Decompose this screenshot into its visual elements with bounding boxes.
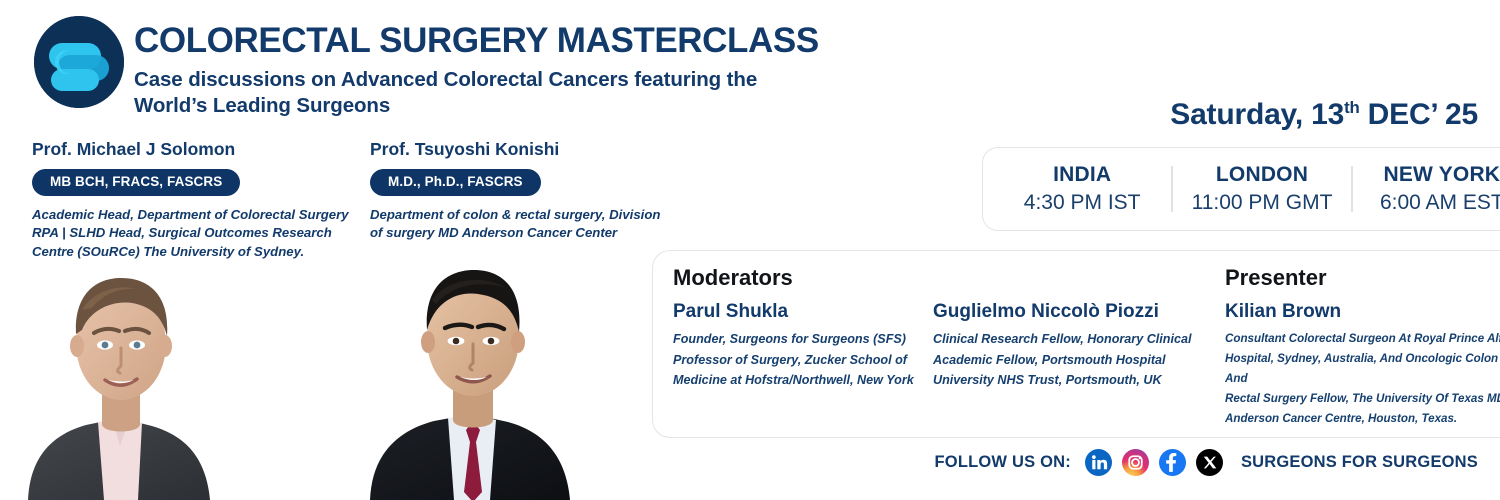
event-day: 13	[1311, 98, 1344, 131]
event-month-year: DEC’ 25	[1360, 98, 1478, 131]
presenter-name: Kilian Brown	[1225, 301, 1500, 324]
timezone-time: 6:00 AM EST	[1359, 191, 1500, 215]
page-subtitle: Case discussions on Advanced Colorectal …	[134, 67, 894, 119]
bio-line: Professor of Surgery, Zucker School of	[673, 350, 923, 370]
bio-line: Hospital, Sydney, Australia, And Oncolog…	[1225, 349, 1500, 389]
event-day-suffix: th	[1344, 98, 1359, 117]
portrait-tsuyoshi-konishi	[360, 244, 590, 500]
timezone-panel: INDIA 4:30 PM IST LONDON 11:00 PM GMT NE…	[982, 147, 1500, 231]
speaker-solomon: Prof. Michael J Solomon MB BCH, FRACS, F…	[32, 139, 352, 262]
bio-line: University NHS Trust, Portsmouth, UK	[933, 370, 1203, 390]
bio-line: Consultant Colorectal Surgeon At Royal P…	[1225, 329, 1500, 349]
moderator-parul-shukla: Parul Shukla Founder, Surgeons for Surge…	[673, 301, 933, 390]
webinar-banner: COLORECTAL SURGERY MASTERCLASS Case disc…	[0, 0, 1500, 500]
page-title: COLORECTAL SURGERY MASTERCLASS	[134, 22, 894, 60]
event-date: Saturday, 13th DEC’ 25	[1170, 98, 1478, 132]
event-weekday: Saturday,	[1170, 98, 1311, 131]
affiliation-line: Department of colon & rectal surgery, Di…	[370, 206, 670, 225]
timezone-city: INDIA	[999, 163, 1165, 187]
moderators-heading: Moderators	[673, 265, 1203, 291]
bio-line: Anderson Cancer Centre, Houston, Texas.	[1225, 409, 1500, 429]
timezone-india: INDIA 4:30 PM IST	[993, 163, 1171, 214]
moderator-name: Parul Shukla	[673, 301, 923, 324]
presenter-bio: Consultant Colorectal Surgeon At Royal P…	[1225, 329, 1500, 429]
speaker-name: Prof. Michael J Solomon	[32, 139, 352, 160]
speaker-credentials-badge: M.D., Ph.D., FASCRS	[370, 169, 541, 196]
bio-line: Clinical Research Fellow, Honorary Clini…	[933, 329, 1203, 349]
affiliation-line: of surgery MD Anderson Cancer Center	[370, 224, 670, 243]
sfs-logo	[34, 16, 124, 108]
facebook-icon[interactable]	[1159, 449, 1186, 476]
subtitle-line-1: Case discussions on Advanced Colorectal …	[134, 67, 894, 93]
bio-line: Medicine at Hofstra/Northwell, New York	[673, 370, 923, 390]
speaker-credentials-badge: MB BCH, FRACS, FASCRS	[32, 169, 240, 196]
speaker-konishi: Prof. Tsuyoshi Konishi M.D., Ph.D., FASC…	[370, 139, 670, 243]
x-twitter-icon[interactable]	[1196, 449, 1223, 476]
moderator-name: Guglielmo Niccolò Piozzi	[933, 301, 1203, 324]
affiliation-line: RPA | SLHD Head, Surgical Outcomes Resea…	[32, 224, 352, 243]
instagram-icon[interactable]	[1122, 449, 1149, 476]
bio-line: Academic Fellow, Portsmouth Hospital	[933, 350, 1203, 370]
speaker-name: Prof. Tsuyoshi Konishi	[370, 139, 670, 160]
avatar	[20, 250, 235, 500]
follow-us-label: FOLLOW US ON:	[935, 453, 1071, 472]
bio-line: Rectal Surgery Fellow, The University Of…	[1225, 389, 1500, 409]
moderators-presenter-panel: Moderators Parul Shukla Founder, Surgeon…	[652, 250, 1500, 438]
timezone-time: 4:30 PM IST	[999, 191, 1165, 215]
affiliation-line: Academic Head, Department of Colorectal …	[32, 206, 352, 225]
timezone-city: NEW YORK	[1359, 163, 1500, 187]
subtitle-line-2: World’s Leading Surgeons	[134, 93, 894, 119]
moderator-bio: Clinical Research Fellow, Honorary Clini…	[933, 329, 1203, 390]
timezone-new-york: NEW YORK 6:00 AM EST	[1353, 163, 1500, 214]
title-block: COLORECTAL SURGERY MASTERCLASS Case disc…	[134, 22, 894, 119]
moderators-section: Moderators Parul Shukla Founder, Surgeon…	[673, 265, 1203, 427]
timezone-london: LONDON 11:00 PM GMT	[1173, 163, 1351, 214]
presenter-heading: Presenter	[1225, 265, 1500, 291]
sfs-circular-s-logo	[34, 16, 124, 108]
footer-social-bar: FOLLOW US ON:	[935, 449, 1478, 476]
moderator-bio: Founder, Surgeons for Surgeons (SFS) Pro…	[673, 329, 923, 390]
timezone-time: 11:00 PM GMT	[1179, 191, 1345, 215]
avatar	[360, 244, 590, 500]
bio-line: Founder, Surgeons for Surgeons (SFS)	[673, 329, 923, 349]
timezone-city: LONDON	[1179, 163, 1345, 187]
moderator-guglielmo-niccolo-piozzi: Guglielmo Niccolò Piozzi Clinical Resear…	[933, 301, 1203, 390]
presenter-section: Presenter Kilian Brown Consultant Colore…	[1203, 265, 1500, 427]
speaker-affiliation: Department of colon & rectal surgery, Di…	[370, 206, 670, 243]
brand-name: SURGEONS FOR SURGEONS	[1241, 453, 1478, 472]
portrait-michael-j-solomon	[20, 250, 235, 500]
linkedin-icon[interactable]	[1085, 449, 1112, 476]
